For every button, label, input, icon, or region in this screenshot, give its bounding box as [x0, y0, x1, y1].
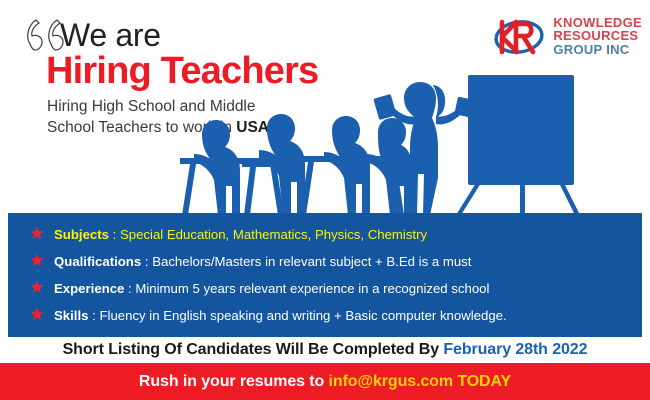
requirement-separator: :: [141, 254, 152, 269]
requirement-text: Subjects : Special Education, Mathematic…: [54, 227, 427, 242]
requirement-label: Subjects: [54, 227, 109, 242]
list-item: Subjects : Special Education, Mathematic…: [8, 225, 642, 252]
requirement-text: Qualifications : Bachelors/Masters in re…: [54, 254, 471, 269]
requirement-value: Minimum 5 years relevant experience in a…: [135, 281, 489, 296]
shortlist-date: February 28th 2022: [443, 341, 587, 358]
logo-line-3: GROUP INC: [553, 43, 642, 57]
logo-line-1: KNOWLEDGE: [553, 16, 642, 30]
requirement-text: Experience : Minimum 5 years relevant ex…: [54, 281, 489, 296]
requirement-value: Special Education, Mathematics, Physics,…: [120, 227, 427, 242]
star-icon: [30, 253, 44, 267]
requirements-panel: Subjects : Special Education, Mathematic…: [8, 213, 642, 337]
student-figure: [366, 118, 412, 215]
shortlist-label: Short Listing Of Candidates Will Be Comp…: [63, 341, 444, 358]
cta-prefix: Rush in your resumes to: [139, 373, 329, 390]
list-item: Qualifications : Bachelors/Masters in re…: [8, 252, 642, 279]
shortlist-text: Short Listing Of Candidates Will Be Comp…: [63, 341, 588, 359]
classroom-teacher-students-illustration: [180, 70, 580, 215]
kr-monogram-logo-icon: [492, 12, 546, 60]
requirement-separator: :: [124, 281, 135, 296]
cta-bar: Rush in your resumes to info@krgus.com T…: [0, 363, 650, 400]
star-icon: [30, 226, 44, 240]
requirement-label: Qualifications: [54, 254, 141, 269]
requirement-separator: :: [88, 308, 99, 323]
requirement-text: Skills : Fluency in English speaking and…: [54, 308, 507, 323]
logo-wordmark: KNOWLEDGE RESOURCES GROUP INC: [553, 16, 642, 57]
requirements-list: Subjects : Special Education, Mathematic…: [8, 213, 642, 333]
recruitment-flyer: We are Hiring Teachers Hiring High Schoo…: [0, 0, 650, 400]
star-icon: [30, 307, 44, 321]
requirement-separator: :: [109, 227, 120, 242]
requirement-value: Fluency in English speaking and writing …: [99, 308, 506, 323]
logo-line-2: RESOURCES: [553, 29, 642, 43]
requirement-label: Skills: [54, 308, 88, 323]
shortlist-bar: Short Listing Of Candidates Will Be Comp…: [0, 337, 650, 363]
list-item: Skills : Fluency in English speaking and…: [8, 306, 642, 333]
cta-email[interactable]: info@krgus.com TODAY: [329, 373, 512, 390]
requirement-label: Experience: [54, 281, 124, 296]
student-figure: [324, 116, 370, 215]
headline-primary: We are: [60, 19, 161, 51]
requirement-value: Bachelors/Masters in relevant subject + …: [152, 254, 471, 269]
star-icon: [30, 280, 44, 294]
company-logo: KNOWLEDGE RESOURCES GROUP INC: [492, 12, 642, 60]
list-item: Experience : Minimum 5 years relevant ex…: [8, 279, 642, 306]
flipchart-easel: [456, 75, 580, 215]
cta-text: Rush in your resumes to info@krgus.com T…: [139, 373, 511, 391]
